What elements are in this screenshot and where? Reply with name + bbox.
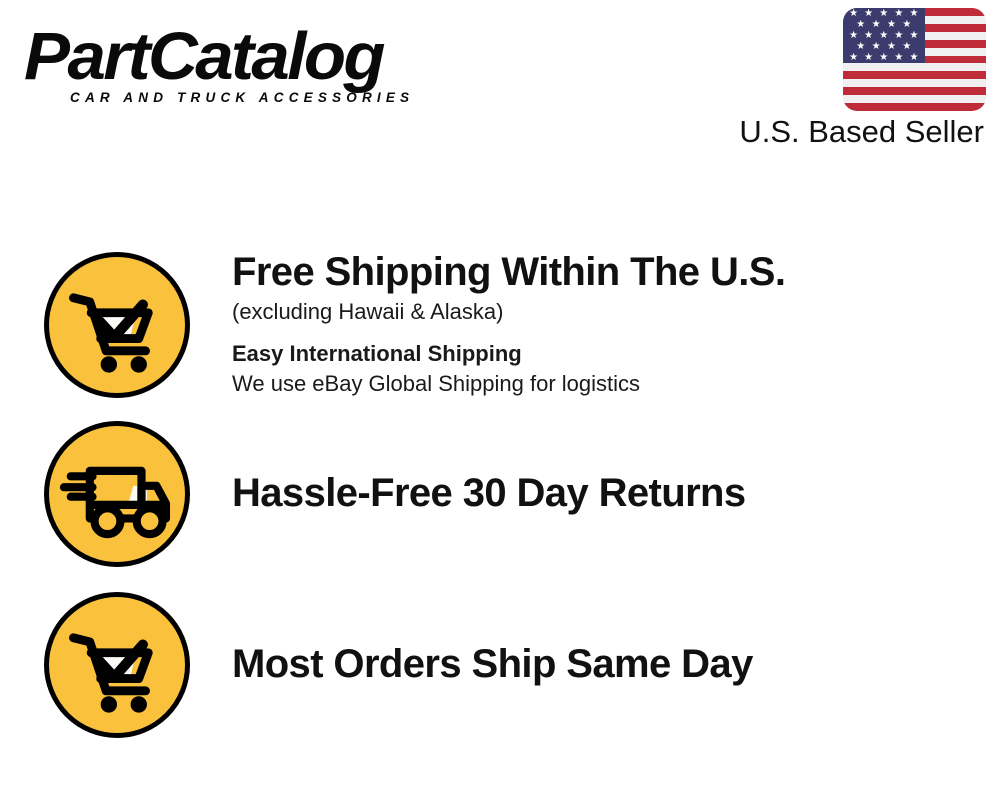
brand-logo[interactable]: PartCatalog CAR AND TRUCK ACCESSORIES [24,22,494,114]
feature-row: Hassle-Free 30 Day Returns [44,421,984,567]
feature-text: Most Orders Ship Same Day [190,641,984,689]
seller-label: U.S. Based Seller [706,115,984,149]
flag-stripe [843,63,986,71]
flag-star-row: ★ ★ ★ ★ ★ [843,8,925,19]
flag-star: ★ [879,53,888,63]
flag-star: ★ [856,42,865,52]
flag-stripe [843,71,986,79]
flag-star-row: ★ ★ ★ ★ [843,19,925,30]
flag-star: ★ [864,53,873,63]
flag-star: ★ [887,42,896,52]
shopping-cart-check-icon [44,252,190,398]
flag-star: ★ [902,20,911,30]
feature-heading: Free Shipping Within The U.S. [232,249,984,295]
flag-star: ★ [849,9,858,19]
feature-text: Hassle-Free 30 Day Returns [190,470,984,518]
flag-star: ★ [894,31,903,41]
flag-star: ★ [856,20,865,30]
flag-star: ★ [849,31,858,41]
feature-heading: Most Orders Ship Same Day [232,641,984,687]
feature-row: Free Shipping Within The U.S. (excluding… [44,249,984,401]
flag-star: ★ [879,31,888,41]
flag-star-row: ★ ★ ★ ★ ★ [843,30,925,41]
flag-stripe [843,103,986,111]
shopping-cart-check-icon [44,592,190,738]
flag-star: ★ [872,20,881,30]
flag-star: ★ [894,53,903,63]
feature-subtext: We use eBay Global Shipping for logistic… [232,369,984,399]
flag-star: ★ [902,42,911,52]
us-flag-icon: ★ ★ ★ ★ ★ ★ ★ ★ ★ ★ ★ ★ ★ ★ ★ ★ [843,8,986,111]
flag-star: ★ [894,9,903,19]
flag-stripe [843,87,986,95]
feature-heading: Hassle-Free 30 Day Returns [232,470,984,516]
feature-text: Free Shipping Within The U.S. (excluding… [190,249,984,401]
flag-star-row: ★ ★ ★ ★ [843,41,925,52]
brand-wordmark: PartCatalog [24,22,508,92]
feature-row: Most Orders Ship Same Day [44,592,984,738]
feature-subtext: (excluding Hawaii & Alaska) [232,297,984,327]
flag-star: ★ [864,9,873,19]
feature-subtext-bold: Easy International Shipping [232,339,984,369]
flag-stripe [843,95,986,103]
flag-star: ★ [872,42,881,52]
flag-star: ★ [849,53,858,63]
flag-star: ★ [909,9,918,19]
flag-star-row: ★ ★ ★ ★ ★ [843,52,925,63]
flag-star: ★ [879,9,888,19]
flag-canton: ★ ★ ★ ★ ★ ★ ★ ★ ★ ★ ★ ★ ★ ★ ★ ★ [843,8,925,63]
flag-star: ★ [864,31,873,41]
flag-stripe [843,79,986,87]
flag-star: ★ [887,20,896,30]
seller-badge: ★ ★ ★ ★ ★ ★ ★ ★ ★ ★ ★ ★ ★ ★ ★ ★ [706,8,986,149]
delivery-truck-icon [44,421,190,567]
flag-star: ★ [909,53,918,63]
flag-star: ★ [909,31,918,41]
